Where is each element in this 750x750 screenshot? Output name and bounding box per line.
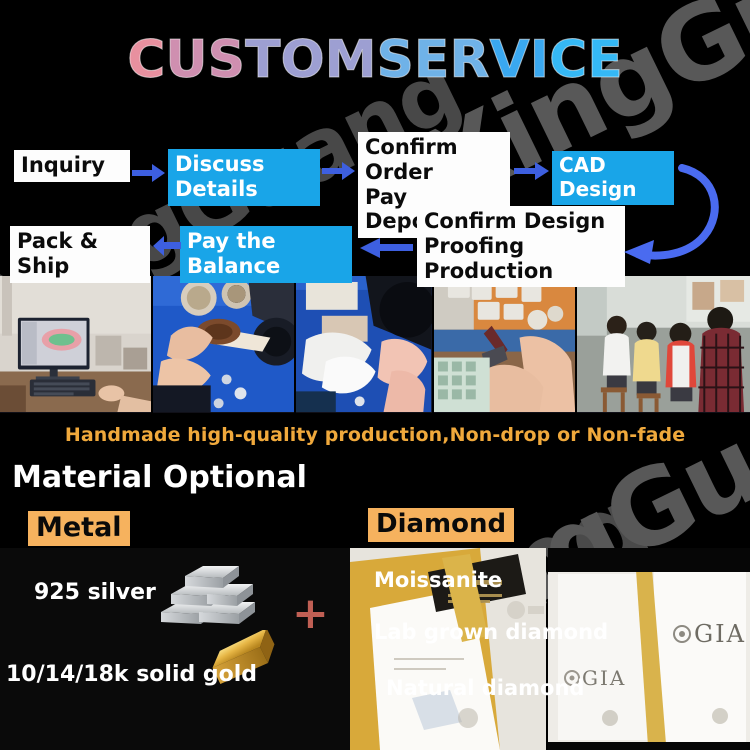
diamond-option-moissanite: Moissanite	[374, 568, 502, 592]
photo-polishing-station	[296, 276, 431, 413]
photo-wax-carving-bench	[153, 276, 294, 413]
process-flowchart: Inquiry Discuss Details Confirm Order Pa…	[0, 128, 750, 276]
svg-text:GIA: GIA	[582, 666, 626, 690]
title-part-5: VI	[490, 30, 550, 90]
title-part-1: C	[127, 30, 165, 90]
flow-node-pack-ship[interactable]: Pack & Ship	[10, 226, 150, 283]
flow-node-confirm-design[interactable]: Confirm Design Proofing Production	[417, 206, 625, 287]
photo-gia-certificates-b: GIA GIA	[548, 548, 750, 750]
photo-stone-setting-bench	[434, 276, 575, 413]
flow-node-discuss-details[interactable]: Discuss Details	[168, 149, 320, 206]
page-title: CUSTOM SERVICE	[0, 30, 750, 90]
plus-icon: +	[292, 592, 329, 636]
material-section-title: Material Optional	[12, 460, 307, 495]
flow-arrow-left-2	[152, 234, 182, 258]
diamond-option-natural: Natural diamond	[386, 676, 584, 700]
title-part-2: US	[165, 30, 245, 90]
metal-option-solid-gold: 10/14/18k solid gold	[6, 662, 257, 687]
photo-workshop-team	[577, 276, 750, 413]
metal-option-925-silver: 925 silver	[34, 580, 156, 605]
flow-node-pay-balance[interactable]: Pay the Balance	[180, 226, 352, 283]
title-part-3: TOM	[245, 30, 376, 90]
workshop-photo-strip	[0, 276, 750, 413]
tagline-text: Handmade high-quality production,Non-dro…	[0, 424, 750, 446]
flow-arrow-curved-down	[612, 164, 742, 270]
svg-text:GIA: GIA	[694, 620, 746, 648]
silver-bars-icon	[155, 556, 259, 635]
flow-node-inquiry[interactable]: Inquiry	[14, 150, 130, 182]
flow-arrow-right-1	[132, 162, 166, 184]
diamond-option-lab-grown: Lab grown diamond	[374, 620, 608, 644]
poster-root: XingGuang XingGuang XingGuang CUSTOM SER…	[0, 0, 750, 750]
flow-arrow-right-2	[322, 160, 356, 182]
title-part-6: CE	[549, 30, 623, 90]
diamond-category-chip[interactable]: Diamond	[368, 508, 514, 542]
flow-arrow-left-1	[358, 236, 414, 260]
title-part-4: SER	[376, 30, 489, 90]
photo-cad-design-workstation	[0, 276, 151, 413]
flow-arrow-right-3	[514, 160, 550, 182]
metal-category-chip[interactable]: Metal	[28, 511, 130, 546]
